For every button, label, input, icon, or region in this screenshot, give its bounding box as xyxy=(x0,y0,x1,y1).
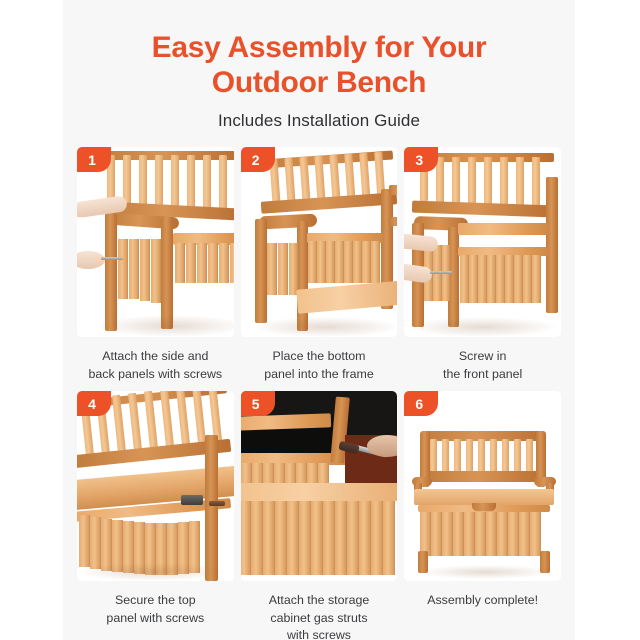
step-badge: 6 xyxy=(404,391,438,416)
screwdriver-shaft xyxy=(101,257,123,260)
title-line-2: Outdoor Bench xyxy=(91,65,547,100)
caption-line-1: Place the bottom xyxy=(245,348,394,366)
caption-line-3: with screws xyxy=(245,627,394,640)
caption-line-2: the front panel xyxy=(408,366,557,384)
hinge-hardware xyxy=(181,495,203,505)
step-2: 2 Place the bottom panel into the frame xyxy=(241,147,398,384)
step-caption: Secure the top panel with screws xyxy=(77,592,234,628)
caption-line-1: Attach the storage xyxy=(245,592,394,610)
step-5-image: 5 xyxy=(241,391,398,581)
caption-line-1: Assembly complete! xyxy=(408,592,557,610)
hand-lower xyxy=(77,251,105,269)
step-caption: Screw in the front panel xyxy=(404,348,561,384)
caption-line-1: Screw in xyxy=(408,348,557,366)
step-3-image: 3 xyxy=(404,147,561,337)
step-badge: 4 xyxy=(77,391,111,416)
step-2-image: 2 xyxy=(241,147,398,337)
hand-upper xyxy=(404,233,439,253)
step-6: 6 Assembly complete! xyxy=(404,391,561,640)
scene-front-panel-screwing xyxy=(404,147,561,337)
step-badge: 5 xyxy=(241,391,275,416)
step-6-image: 6 xyxy=(404,391,561,581)
step-5: 5 Attach the storage cabinet gas struts … xyxy=(241,391,398,640)
step-caption: Assembly complete! xyxy=(404,592,561,628)
caption-line-1: Secure the top xyxy=(81,592,230,610)
assembly-guide-page: Easy Assembly for Your Outdoor Bench Inc… xyxy=(0,0,640,640)
screwdriver-shaft xyxy=(430,271,452,274)
step-4-image: 4 xyxy=(77,391,234,581)
step-badge: 1 xyxy=(77,147,111,172)
page-subtitle: Includes Installation Guide xyxy=(63,111,575,131)
scene-side-panel-screwing xyxy=(77,147,234,337)
hinge-screw xyxy=(209,501,225,506)
caption-line-2: panel into the frame xyxy=(245,366,394,384)
caption-line-2: panel with screws xyxy=(81,610,230,628)
step-badge: 3 xyxy=(404,147,438,172)
front-panel-top-rail xyxy=(458,223,548,235)
caption-line-2: back panels with screws xyxy=(81,366,230,384)
title-line-1: Easy Assembly for Your xyxy=(91,30,547,65)
step-badge: 2 xyxy=(241,147,275,172)
step-caption: Attach the side and back panels with scr… xyxy=(77,348,234,384)
step-caption: Place the bottom panel into the frame xyxy=(241,348,398,384)
step-3: 3 Screw in the front panel xyxy=(404,147,561,384)
header: Easy Assembly for Your Outdoor Bench Inc… xyxy=(63,0,575,131)
steps-grid: 1 Attach the side and back panels with s… xyxy=(63,147,575,640)
scene-top-panel-hinge xyxy=(77,391,234,581)
step-caption: Attach the storage cabinet gas struts wi… xyxy=(241,592,398,640)
scene-finished-bench xyxy=(404,391,561,581)
caption-line-2: cabinet gas struts xyxy=(245,610,394,628)
caption-line-1: Attach the side and xyxy=(81,348,230,366)
step-1-image: 1 xyxy=(77,147,234,337)
scene-gas-struts-dark xyxy=(241,391,398,581)
page-title: Easy Assembly for Your Outdoor Bench xyxy=(63,30,575,100)
step-1: 1 Attach the side and back panels with s… xyxy=(77,147,234,384)
step-4: 4 Secure the top panel with screws xyxy=(77,391,234,640)
scene-bottom-panel-insert xyxy=(241,147,398,337)
lid-handle xyxy=(472,503,496,511)
